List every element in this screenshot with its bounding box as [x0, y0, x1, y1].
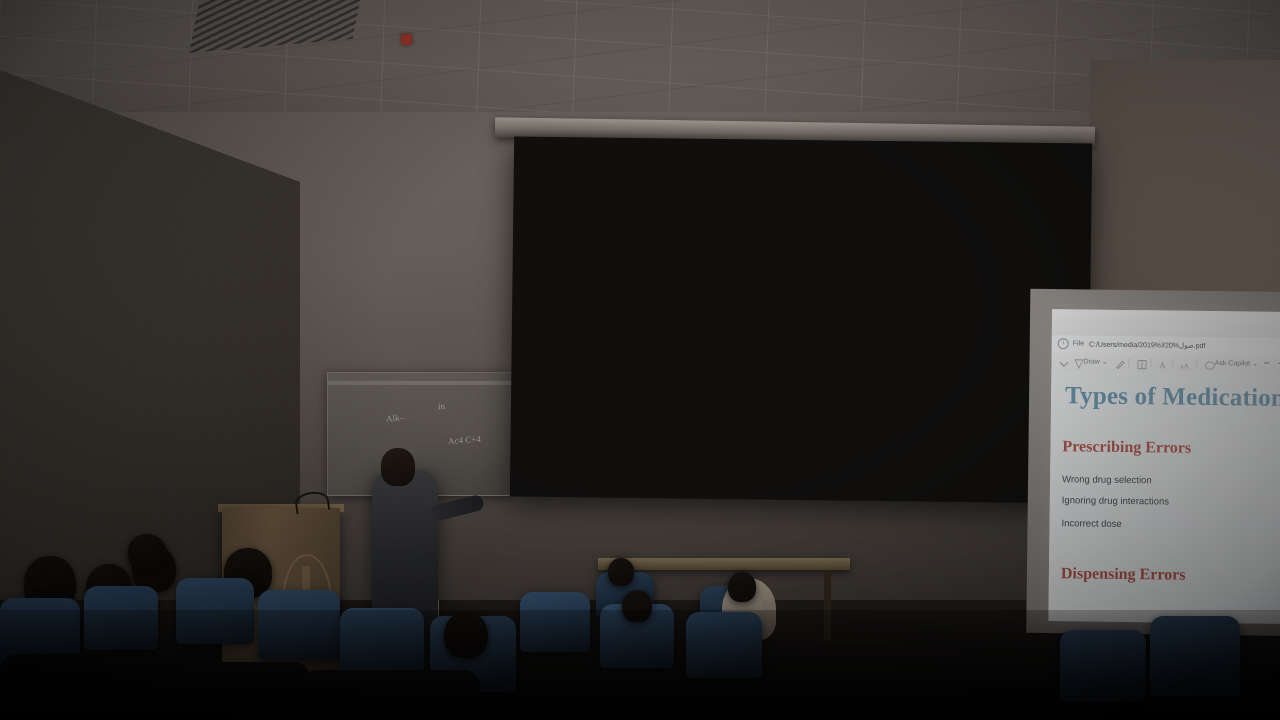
bullet-prescribing-2: Ignoring drug interactions [1062, 495, 1169, 507]
toolbar-divider-2 [1151, 358, 1152, 367]
address-security-label: File [1073, 340, 1084, 347]
seat [84, 586, 158, 650]
audience-head [444, 612, 488, 658]
table-leg-right [824, 570, 831, 640]
highlighter-icon[interactable] [1114, 357, 1123, 366]
draw-tool-caret[interactable]: ⌄ [1102, 358, 1108, 366]
seat [1060, 630, 1146, 702]
audience-head [728, 572, 756, 602]
whiteboard-note-2: in [438, 401, 446, 411]
page-layout-icon[interactable] [1136, 358, 1145, 367]
ask-copilot-caret[interactable]: ⌄ [1252, 360, 1258, 368]
pdf-toolbar-left: Draw ⌄ A [1057, 357, 1258, 368]
text-size-icon[interactable]: aA [1180, 358, 1191, 367]
seat [176, 578, 254, 644]
seat [1150, 616, 1240, 696]
toolbar-divider-4 [1197, 358, 1198, 367]
section-heading-prescribing-errors: Prescribing Errors [1062, 438, 1191, 458]
ask-copilot-label: Ask Copilot [1215, 360, 1250, 367]
audience-head [622, 590, 652, 622]
foreground-attendee [300, 670, 480, 720]
chevron-down-icon[interactable] [1057, 357, 1066, 366]
slide-title: Types of Medication Errors [1065, 382, 1280, 414]
whiteboard-tray [328, 381, 513, 385]
svg-text:aA: aA [1180, 361, 1189, 370]
lecture-hall-photo: Alk– in Ac4 C+4 [0, 0, 1280, 720]
whiteboard-note-1: Alk– [386, 412, 405, 423]
toolbar-divider-3 [1173, 358, 1174, 367]
seat [258, 590, 340, 660]
audience-area [0, 520, 1280, 720]
whiteboard-note-3: Ac4 C+4 [448, 434, 481, 446]
seat [686, 612, 762, 678]
presenter-head [381, 448, 415, 486]
fire-sprinkler-icon [400, 33, 412, 45]
read-aloud-icon[interactable]: A [1158, 358, 1167, 367]
info-circle-icon[interactable]: i [1058, 338, 1069, 349]
copilot-icon [1204, 358, 1213, 367]
address-url-text[interactable]: C:/Users/media/2019%صول%20لا.pdf [1089, 340, 1205, 349]
front-table [598, 558, 850, 570]
draw-tool-label: Draw [1083, 358, 1099, 365]
seat [520, 592, 590, 652]
toolbar-divider-1 [1129, 358, 1130, 367]
audience-head [128, 534, 166, 570]
pen-icon [1072, 357, 1081, 366]
audience-head [608, 558, 634, 586]
projection-screen-frame: ••• i File C:/Users/media/2019%صول%20لا.… [510, 136, 1092, 503]
svg-text:A: A [1159, 360, 1166, 370]
bullet-prescribing-1: Wrong drug selection [1062, 474, 1152, 486]
draw-tool-button[interactable]: Draw ⌄ [1072, 357, 1107, 366]
foreground-attendee [0, 654, 150, 720]
ask-copilot-button[interactable]: Ask Copilot ⌄ [1204, 358, 1258, 368]
pdf-page-controls: − + 4 of 11 [1263, 357, 1280, 372]
zoom-out-button[interactable]: − [1263, 358, 1270, 369]
foreground-attendee [150, 662, 310, 720]
